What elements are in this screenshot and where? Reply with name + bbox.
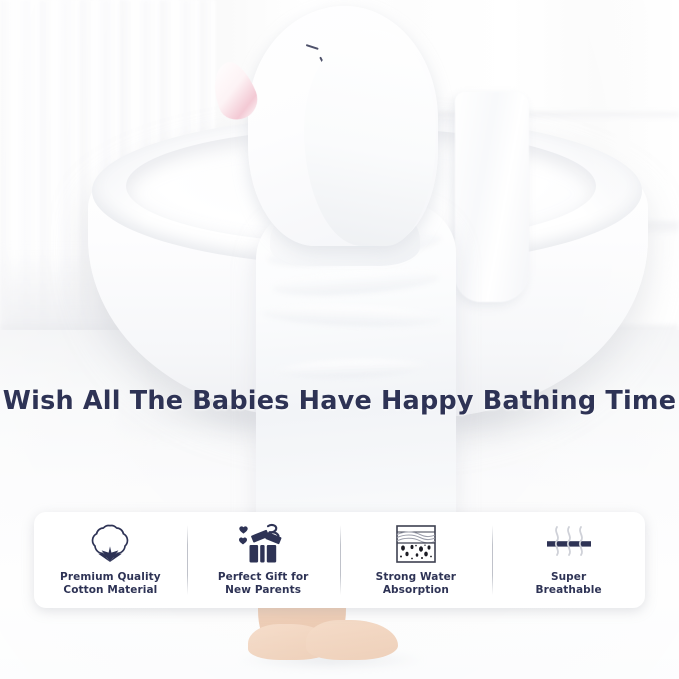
feature-cotton: Premium Quality Cotton Material <box>34 512 187 608</box>
feature-caption-line2: Breathable <box>536 584 602 597</box>
feature-breathable: Super Breathable <box>492 512 645 608</box>
towel-hood-front <box>304 30 436 246</box>
feature-caption-line2: New Parents <box>218 584 309 597</box>
product-marketing-image: Wish All The Babies Have Happy Bathing T… <box>0 0 679 679</box>
cotton-boll-icon <box>83 523 137 565</box>
feature-caption-line1: Strong Water <box>376 571 456 584</box>
feature-caption: Perfect Gift for New Parents <box>218 571 309 597</box>
feature-caption: Super Breathable <box>536 571 602 597</box>
feature-caption-line2: Absorption <box>376 584 456 597</box>
feature-gift: Perfect Gift for New Parents <box>187 512 340 608</box>
feature-caption-line1: Premium Quality <box>60 571 161 584</box>
headline-text: Wish All The Babies Have Happy Bathing T… <box>0 386 679 416</box>
feature-caption-line2: Cotton Material <box>60 584 161 597</box>
water-absorption-icon <box>391 523 441 565</box>
feature-caption-line1: Super <box>536 571 602 584</box>
child-subject <box>196 0 486 560</box>
feature-caption: Strong Water Absorption <box>376 571 456 597</box>
gift-box-icon <box>235 523 291 565</box>
feature-caption-line1: Perfect Gift for <box>218 571 309 584</box>
feature-absorption: Strong Water Absorption <box>340 512 493 608</box>
feature-caption: Premium Quality Cotton Material <box>60 571 161 597</box>
breathable-airflow-icon <box>540 523 598 565</box>
feature-panel: Premium Quality Cotton Material Perfect <box>34 512 645 608</box>
